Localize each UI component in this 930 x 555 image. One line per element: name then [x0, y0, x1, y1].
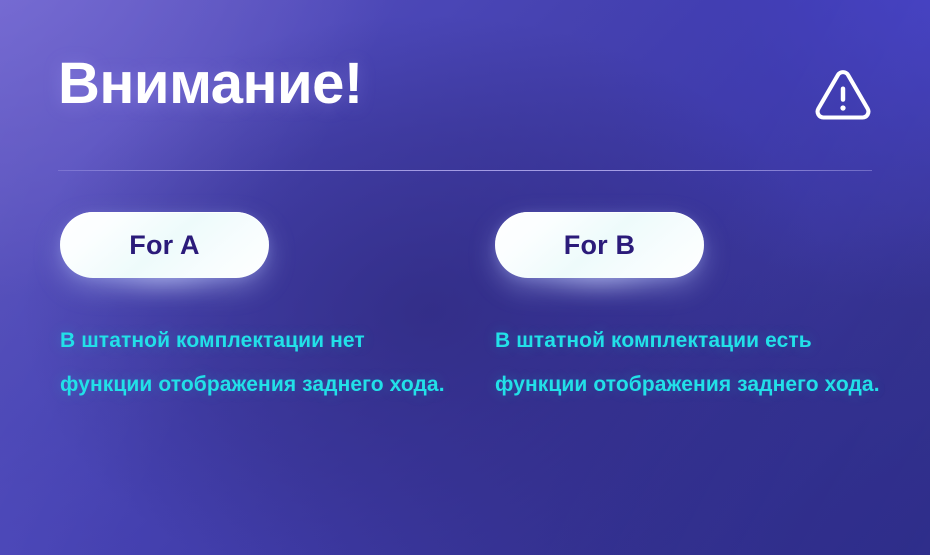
content-layer: Внимание! For A В штатной комплектации н…	[0, 0, 930, 555]
option-column-b: For B В штатной комплектации есть функци…	[495, 212, 895, 407]
for-b-button-label: For B	[564, 230, 636, 261]
header-divider	[58, 170, 872, 171]
option-a-description: В штатной комплектации нет функции отобр…	[60, 278, 445, 407]
notice-screen: Внимание! For A В штатной комплектации н…	[0, 0, 930, 555]
option-b-description: В штатной комплектации есть функции отоб…	[495, 278, 880, 407]
for-a-button-label: For A	[129, 230, 200, 261]
page-title: Внимание!	[58, 54, 363, 115]
warning-triangle-icon	[812, 64, 874, 126]
pill-wrapper-a: For A	[60, 212, 269, 278]
for-b-button[interactable]: For B	[495, 212, 704, 278]
pill-wrapper-b: For B	[495, 212, 704, 278]
for-a-button[interactable]: For A	[60, 212, 269, 278]
option-column-a: For A В штатной комплектации нет функции…	[60, 212, 460, 407]
